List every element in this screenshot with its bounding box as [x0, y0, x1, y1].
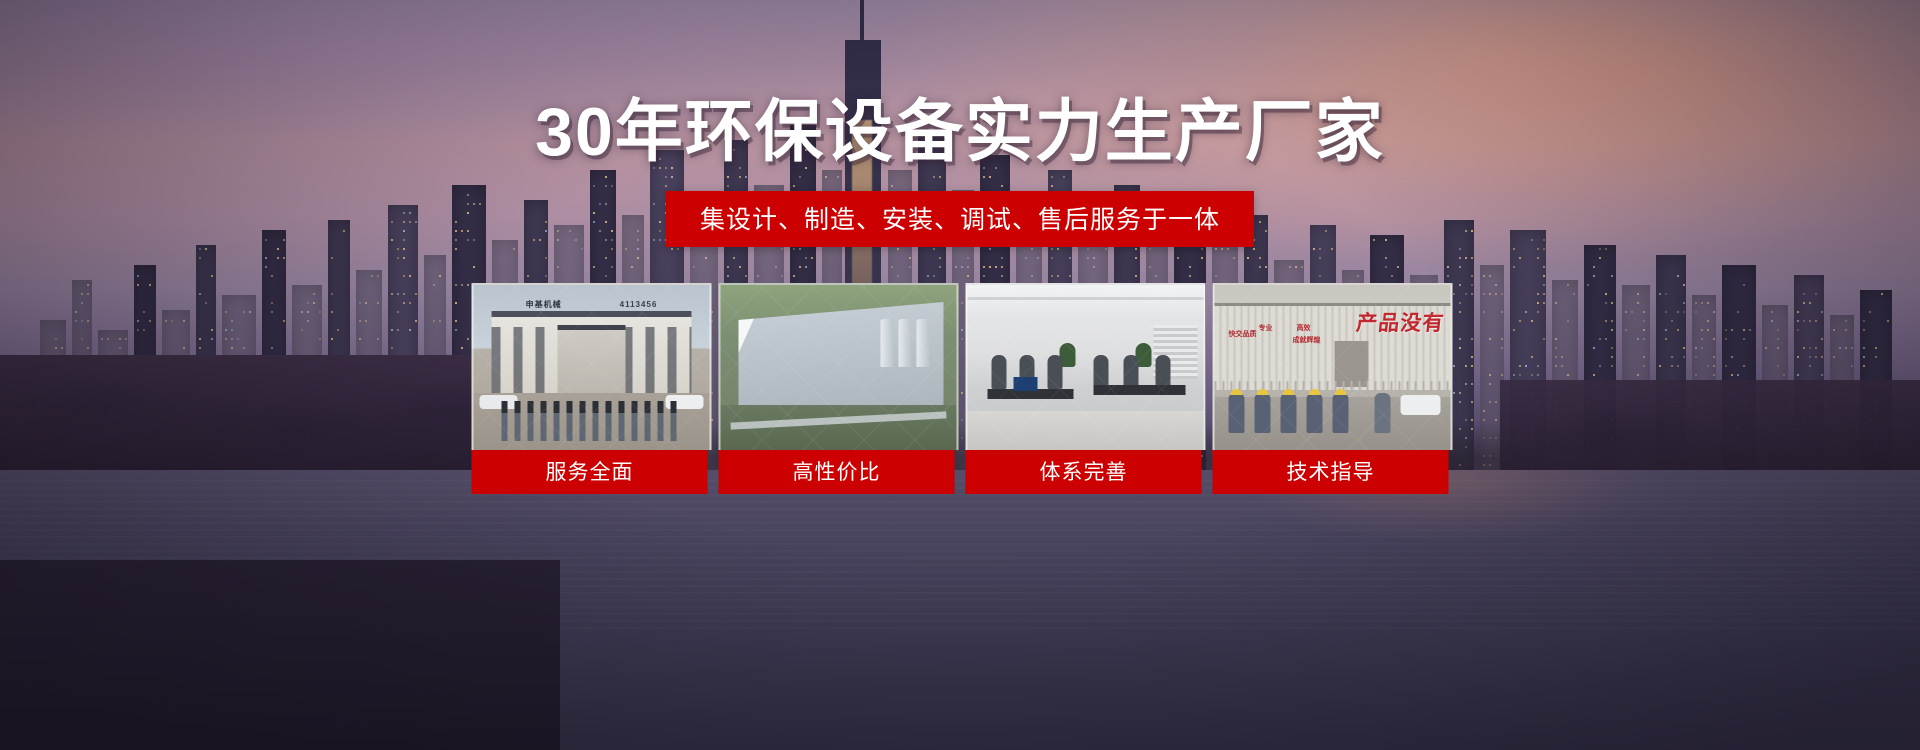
factory-wall-slogan-small: 高效	[1297, 325, 1311, 334]
storage-silo	[881, 319, 894, 367]
feature-card-caption: 技术指导	[1213, 450, 1449, 494]
safety-helmet	[1309, 389, 1321, 395]
workshop-workers-photo: 产品没有 快交品质 专业 高效 成就辉煌	[1213, 283, 1453, 450]
office-meeting-room-photo	[966, 283, 1206, 450]
feature-card[interactable]: 高性价比	[719, 283, 955, 494]
feature-card-caption: 高性价比	[719, 450, 955, 494]
hero-banner: 30年环保设备实力生产厂家 集设计、制造、安装、调试、售后服务于一体 申基机械4…	[0, 0, 1920, 750]
banner-subtitle-bar: 集设计、制造、安装、调试、售后服务于一体	[666, 191, 1254, 247]
storage-silo	[917, 319, 930, 367]
feature-card-caption: 服务全面	[472, 450, 708, 494]
aerial-factory-plant-photo	[719, 283, 959, 450]
building-signage-phone: 4113456	[620, 300, 658, 309]
worker	[1333, 393, 1349, 433]
safety-helmet	[1231, 389, 1243, 395]
safety-helmet	[1335, 389, 1347, 395]
office-worker	[1124, 355, 1139, 389]
office-worker	[992, 355, 1007, 389]
feature-card-caption: 体系完善	[966, 450, 1202, 494]
feature-card[interactable]: 申基机械4113456 服务全面	[472, 283, 708, 494]
office-worker	[1048, 355, 1063, 389]
storage-silo	[899, 319, 912, 367]
white-van	[1401, 395, 1441, 415]
safety-helmet	[1283, 389, 1295, 395]
banner-headline: 30年环保设备实力生产厂家	[0, 98, 1920, 166]
company-building-with-staff-photo: 申基机械4113456	[472, 283, 712, 450]
worker	[1255, 393, 1271, 433]
supervisor	[1375, 393, 1391, 433]
office-worker	[1094, 355, 1109, 389]
office-floor	[968, 411, 1204, 450]
building-entrance	[558, 325, 626, 400]
feature-card[interactable]: 产品没有 快交品质 专业 高效 成就辉煌	[1213, 283, 1449, 494]
worker	[1307, 393, 1323, 433]
building-signage-name: 申基机械	[526, 300, 562, 309]
staff-heads	[502, 401, 682, 413]
office-desk	[1094, 385, 1186, 395]
factory-wall-slogan-small: 专业	[1259, 325, 1273, 334]
banner-content: 30年环保设备实力生产厂家 集设计、制造、安装、调试、售后服务于一体 申基机械4…	[0, 0, 1920, 750]
worker	[1281, 393, 1297, 433]
office-ceiling	[968, 285, 1204, 321]
office-worker	[1156, 355, 1171, 389]
feature-card-list: 申基机械4113456 服务全面	[472, 283, 1449, 494]
factory-wall-slogan-small: 快交品质	[1229, 331, 1257, 340]
feature-card[interactable]: 体系完善	[966, 283, 1202, 494]
worker	[1229, 393, 1245, 433]
factory-wall-slogan: 产品没有	[1355, 307, 1446, 337]
safety-helmet	[1257, 389, 1269, 395]
factory-wall-slogan-small: 成就辉煌	[1293, 337, 1321, 346]
building-signage: 申基机械4113456	[526, 299, 658, 310]
laptop	[1014, 377, 1038, 391]
